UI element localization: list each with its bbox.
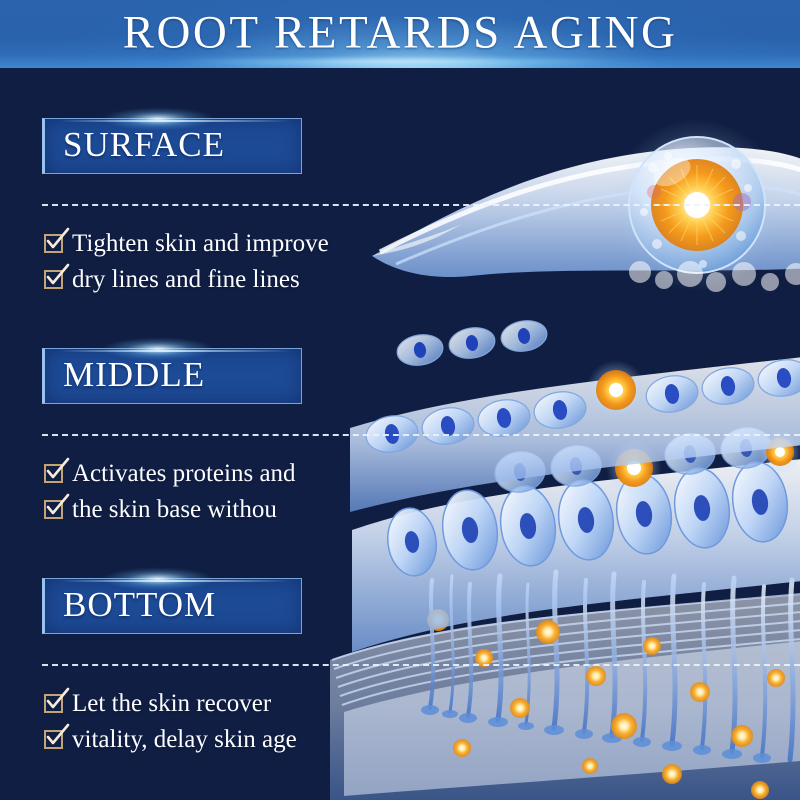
bullet-list-bottom: Let the skin recover vitality, delay ski…	[44, 688, 424, 760]
section-label-bar-bottom[interactable]: BOTTOM	[42, 578, 302, 634]
section-bottom: BOTTOM	[0, 578, 420, 634]
divider-surface	[42, 204, 800, 206]
check-mark-icon	[44, 494, 70, 520]
list-item: Let the skin recover	[44, 688, 424, 724]
page-title: ROOT RETARDS AGING	[0, 10, 800, 57]
check-mark-icon	[44, 458, 70, 484]
list-item: vitality, delay skin age	[44, 724, 424, 760]
section-label-bar-surface[interactable]: SURFACE	[42, 118, 302, 174]
check-mark-icon	[44, 688, 70, 714]
section-label-middle: MIDDLE	[63, 357, 205, 392]
divider-middle	[42, 434, 800, 436]
bullet-list-surface: Tighten skin and improve dry lines and f…	[44, 228, 424, 300]
section-middle: MIDDLE	[0, 348, 420, 404]
section-surface: SURFACE	[0, 118, 420, 174]
list-item-label: dry lines and fine lines	[72, 264, 300, 296]
gold-particles	[427, 609, 785, 799]
golden-cell	[758, 430, 800, 474]
section-label-bar-middle[interactable]: MIDDLE	[42, 348, 302, 404]
list-item-label: the skin base withou	[72, 494, 277, 526]
list-item-label: vitality, delay skin age	[72, 724, 297, 756]
poster-root: ROOT RETARDS AGING	[0, 0, 800, 800]
section-label-bottom: BOTTOM	[63, 587, 216, 622]
checkbox-checked-icon[interactable]	[44, 730, 63, 749]
header-banner: ROOT RETARDS AGING	[0, 0, 800, 68]
check-mark-icon	[44, 228, 70, 254]
list-item: dry lines and fine lines	[44, 264, 424, 300]
bullet-list-middle: Activates proteins and the skin base wit…	[44, 458, 424, 530]
list-item-label: Activates proteins and	[72, 458, 296, 490]
list-item: the skin base withou	[44, 494, 424, 530]
list-item-label: Let the skin recover	[72, 688, 271, 720]
golden-cell	[606, 440, 662, 496]
divider-bottom	[42, 664, 800, 666]
checkbox-checked-icon[interactable]	[44, 464, 63, 483]
list-item-label: Tighten skin and improve	[72, 228, 329, 260]
checkbox-checked-icon[interactable]	[44, 270, 63, 289]
list-item: Activates proteins and	[44, 458, 424, 494]
golden-cell	[586, 360, 646, 420]
check-mark-icon	[44, 264, 70, 290]
check-mark-icon	[44, 724, 70, 750]
checkbox-checked-icon[interactable]	[44, 234, 63, 253]
list-item: Tighten skin and improve	[44, 228, 424, 264]
section-label-surface: SURFACE	[63, 127, 225, 162]
checkbox-checked-icon[interactable]	[44, 500, 63, 519]
checkbox-checked-icon[interactable]	[44, 694, 63, 713]
